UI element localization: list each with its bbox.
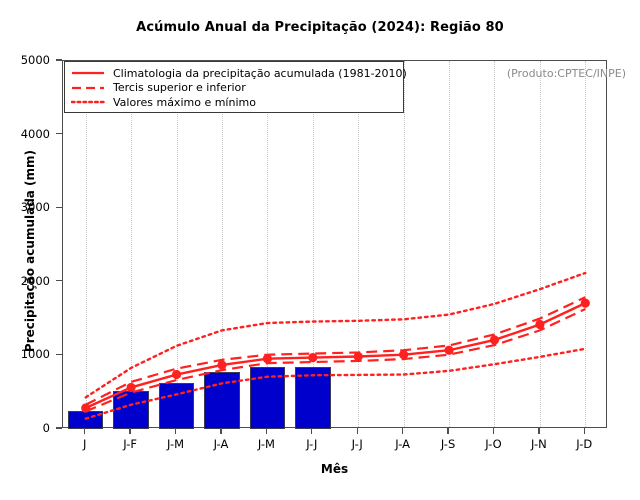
y-tick-label: 2000 [6, 274, 50, 288]
x-tick-label: J-O [485, 437, 502, 451]
series-marker [217, 360, 226, 369]
legend-label: Climatologia da precipitação acumulada (… [113, 67, 407, 80]
x-tick-label: J-M [258, 437, 275, 451]
legend-item-2: Valores máximo e mínimo [71, 95, 397, 110]
y-axis-label: Precipitação acumulada (mm) [23, 121, 37, 381]
y-tick-label: 4000 [6, 127, 50, 141]
x-tick-label: J-A [395, 437, 410, 451]
legend-swatch-dotted [71, 96, 105, 108]
x-tick-label: J-J [352, 437, 363, 451]
legend-label: Valores máximo e mínimo [113, 96, 256, 109]
series-line [86, 297, 586, 404]
x-tick-label: J-D [576, 437, 592, 451]
y-tick-label: 5000 [6, 53, 50, 67]
series-marker [172, 370, 181, 379]
series-line [86, 309, 586, 411]
x-tick-label: J-N [531, 437, 547, 451]
y-tick-mark [56, 354, 62, 355]
x-tick-label: J-S [441, 437, 455, 451]
legend-swatch-dashed [71, 82, 105, 94]
producer-note: (Produto:CPTEC/INPE) [507, 67, 626, 80]
plot-area [62, 60, 607, 428]
legend-label: Tercis superior e inferior [113, 81, 246, 94]
page-title: Acúmulo Anual da Precipitação (2024): Re… [0, 20, 640, 35]
chart-figure: Acúmulo Anual da Precipitação (2024): Re… [0, 0, 640, 500]
y-tick-mark [56, 207, 62, 208]
legend-item-1: Tercis superior e inferior [71, 81, 397, 96]
chart-legend: Climatologia da precipitação acumulada (… [64, 61, 404, 113]
y-tick-label: 0 [6, 421, 50, 435]
y-tick-mark [56, 427, 62, 428]
x-tick-label: J [83, 437, 86, 451]
x-tick-label: J-J [306, 437, 317, 451]
series-layer [63, 61, 608, 429]
y-tick-mark [56, 133, 62, 134]
x-tick-label: J-F [123, 437, 137, 451]
legend-swatch-solid [71, 67, 105, 79]
x-tick-label: J-M [167, 437, 184, 451]
x-tick-label: J-A [214, 437, 229, 451]
y-tick-label: 3000 [6, 200, 50, 214]
legend-item-0: Climatologia da precipitação acumulada (… [71, 66, 397, 81]
y-tick-label: 1000 [6, 347, 50, 361]
series-line [86, 349, 586, 419]
series-line [86, 303, 586, 408]
y-tick-mark [56, 280, 62, 281]
y-tick-mark [56, 59, 62, 60]
x-axis-label: Mês [62, 462, 607, 476]
series-marker [490, 335, 499, 344]
